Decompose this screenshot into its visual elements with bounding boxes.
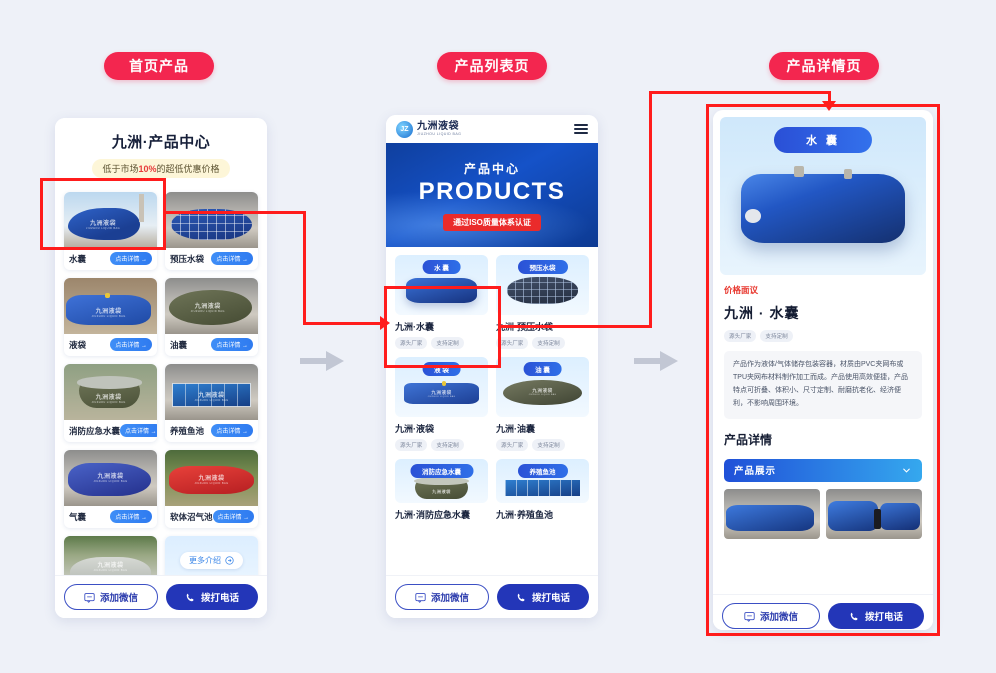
product-name: 气囊 [69, 511, 86, 523]
product-gallery-accordion[interactable]: 产品展示 [724, 459, 922, 482]
detail-action-bar: 添加微信 拨打电话 [713, 594, 933, 630]
connector-arrowhead-list [380, 316, 390, 330]
list-card-xiaofang-yingji[interactable]: 消防应急水囊 九洲液袋 九洲·消防应急水囊 [395, 459, 488, 521]
list-action-bar: 添加微信 拨打电话 [386, 575, 598, 618]
product-name: 预压水袋 [170, 253, 204, 265]
product-image: 液 袋 九洲液袋JIUZHOU LIQUID BAG [395, 357, 488, 417]
product-card-younang[interactable]: 九洲液袋JIUZHOU LIQUID BAG 油囊 点击详情 → [165, 278, 258, 356]
product-card-qinang[interactable]: 九洲液袋JIUZHOU LIQUID BAG 气囊 点击详情 → [64, 450, 157, 528]
phone-detail-screen: 水 囊 价格面议 九洲 · 水囊 源头厂家 支持定制 产品作为液体/气体储存包装… [713, 110, 933, 630]
detail-section-title: 产品详情 [724, 431, 922, 448]
detail-chip[interactable]: 点击详情 → [213, 510, 255, 523]
home-header: 九洲·产品中心 低于市场10%的超低优惠价格 [55, 118, 267, 184]
tag-source-factory: 源头厂家 [395, 337, 427, 349]
page-title: 九洲·产品中心 [65, 131, 257, 152]
promo-prefix: 低于市场 [102, 164, 138, 174]
hamburger-icon[interactable] [574, 124, 588, 134]
product-tags: 源头厂家 支持定制 [496, 439, 589, 451]
detail-info: 价格面议 九洲 · 水囊 源头厂家 支持定制 产品作为液体/气体储存包装容器，材… [713, 275, 933, 419]
price-label: 价格面议 [724, 284, 922, 296]
product-tags: 源头厂家 支持定制 [395, 439, 488, 451]
connector-list-to-detail-v1 [649, 91, 652, 328]
phone-home-screen: 九洲·产品中心 低于市场10%的超低优惠价格 九洲液袋JIUZHOU LIQUI… [55, 118, 267, 618]
detail-hero-image: 水 囊 [720, 117, 926, 275]
step-pill-list: 产品列表页 [437, 52, 547, 80]
hero-product-badge: 水 囊 [774, 127, 872, 153]
add-wechat-label: 添加微信 [760, 609, 798, 623]
detail-gallery [724, 489, 922, 539]
product-card-ruanti-zhaoqichi[interactable]: 九洲液袋JIUZHOU LIQUID BAG 软体沼气池 点击详情 → [165, 450, 258, 528]
tag-customizable: 支持定制 [431, 439, 463, 451]
product-image: 预压水袋 [496, 255, 589, 315]
list-hero-banner: 产品中心 PRODUCTS 通过ISO质量体系认证 [386, 143, 598, 247]
product-image: 九洲液袋JIUZHOU LIQUID BAG [64, 192, 157, 248]
add-wechat-label: 添加微信 [100, 590, 138, 604]
image-watermark: 九洲液袋JIUZHOU LIQUID BAG [86, 218, 120, 230]
connector-home-to-list-v [303, 211, 306, 324]
phone-icon [849, 611, 860, 622]
product-title: 九洲 · 水囊 [724, 303, 922, 323]
detail-chip[interactable]: 点击详情 → [120, 424, 157, 437]
detail-chip[interactable]: 点击详情 → [211, 338, 253, 351]
more-intro-chip[interactable]: 更多介绍 [180, 552, 243, 569]
product-card-yangzhi-yuchi[interactable]: 九洲液袋JIUZHOU LIQUID BAG 养殖鱼池 点击详情 → [165, 364, 258, 442]
home-action-bar: 添加微信 拨打电话 [55, 575, 267, 618]
product-badge: 液 袋 [422, 362, 461, 376]
call-phone-button[interactable]: 拨打电话 [166, 584, 258, 610]
promo-highlight: 10% [138, 164, 156, 174]
home-product-grid: 九洲液袋JIUZHOU LIQUID BAG 水囊 点击详情 → [55, 184, 267, 584]
list-card-younang[interactable]: 油 囊 九洲液袋JIUZHOU LIQUID BAG 九洲·油囊 源头厂家 支持… [496, 357, 589, 451]
accordion-label: 产品展示 [734, 463, 776, 477]
banner-title-cn: 产品中心 [464, 160, 520, 177]
detail-chip[interactable]: 点击详情 → [211, 424, 253, 437]
promo-suffix: 的超低优惠价格 [157, 164, 220, 174]
product-image: 消防应急水囊 九洲液袋 [395, 459, 488, 503]
product-card-shuinang[interactable]: 九洲液袋JIUZHOU LIQUID BAG 水囊 点击详情 → [64, 192, 157, 270]
product-title: 九洲·液袋 [395, 422, 488, 435]
call-phone-button[interactable]: 拨打电话 [497, 584, 589, 610]
product-name: 消防应急水囊 [69, 425, 120, 437]
product-name: 水囊 [69, 253, 86, 265]
arrow-right-circle-icon [225, 556, 234, 565]
product-badge: 油 囊 [523, 362, 562, 376]
flow-arrow-1 [300, 348, 346, 374]
chat-bubble-icon [415, 592, 426, 603]
list-navbar: JZ 九洲液袋 JIUZHOU LIQUID BAG [386, 115, 598, 143]
promo-subtitle: 低于市场10%的超低优惠价格 [92, 159, 229, 178]
step-pill-home: 首页产品 [104, 52, 214, 80]
product-name: 液袋 [69, 339, 86, 351]
product-image: 九洲液袋JIUZHOU LIQUID BAG [165, 278, 258, 334]
connector-home-to-list-h2 [303, 322, 383, 325]
logo-name-en: JIUZHOU LIQUID BAG [417, 133, 461, 137]
add-wechat-label: 添加微信 [431, 590, 469, 604]
product-card-xiaofang-yingji[interactable]: 九洲液袋JIUZHOU LIQUID BAG 消防应急水囊 点击详情 → [64, 364, 157, 442]
logo-mark-icon: JZ [396, 121, 413, 138]
phone-icon [516, 592, 527, 603]
gallery-image-2[interactable] [826, 489, 922, 539]
chat-bubble-icon [744, 611, 755, 622]
product-title: 九洲·油囊 [496, 422, 589, 435]
call-phone-label: 拨打电话 [532, 590, 570, 604]
logo-name-cn: 九洲液袋 [417, 122, 461, 132]
phone-list-screen: JZ 九洲液袋 JIUZHOU LIQUID BAG 产品中心 PRODUCTS… [386, 115, 598, 618]
product-image: 九洲液袋JIUZHOU LIQUID BAG [165, 450, 258, 506]
product-image: 九洲液袋JIUZHOU LIQUID BAG [64, 364, 157, 420]
gallery-image-1[interactable] [724, 489, 820, 539]
chevron-down-icon [901, 465, 912, 476]
add-wechat-button[interactable]: 添加微信 [722, 603, 820, 629]
phone-icon [185, 592, 196, 603]
call-phone-button[interactable]: 拨打电话 [828, 603, 924, 629]
more-intro-label: 更多介绍 [189, 555, 221, 566]
call-phone-label: 拨打电话 [201, 590, 239, 604]
tag-source-factory: 源头厂家 [724, 330, 756, 342]
flow-arrow-2 [634, 348, 680, 374]
call-phone-label: 拨打电话 [865, 609, 903, 623]
site-logo[interactable]: JZ 九洲液袋 JIUZHOU LIQUID BAG [396, 121, 461, 138]
tag-source-factory: 源头厂家 [395, 439, 427, 451]
product-badge: 预压水袋 [518, 260, 568, 274]
product-image: 养殖鱼池 [496, 459, 589, 503]
add-wechat-button[interactable]: 添加微信 [64, 584, 158, 610]
iso-badge: 通过ISO质量体系认证 [443, 214, 541, 231]
product-description: 产品作为液体/气体储存包装容器，材质由PVC夹网布或TPU夹网布材料制作加工而成… [724, 351, 922, 419]
list-card-yuya-shuidai[interactable]: 预压水袋 九洲·预压水袋 源头厂家 支持定制 [496, 255, 589, 349]
flow-diagram: 首页产品 产品列表页 产品详情页 九洲·产品中心 低于市场10%的超低优惠价格 [0, 0, 996, 673]
list-card-yangzhi-yuchi[interactable]: 养殖鱼池 九洲·养殖鱼池 [496, 459, 589, 521]
list-product-grid: 水 囊 九洲·水囊 源头厂家 支持定制 预压水袋 九洲·预压水 [386, 247, 598, 521]
connector-list-to-detail-h1 [498, 325, 652, 328]
product-image [165, 192, 258, 248]
product-name: 油囊 [170, 339, 187, 351]
tag-source-factory: 源头厂家 [496, 439, 528, 451]
step-pill-detail: 产品详情页 [769, 52, 879, 80]
list-card-yedai[interactable]: 液 袋 九洲液袋JIUZHOU LIQUID BAG 九洲·液袋 源头厂家 支持… [395, 357, 488, 451]
detail-chip[interactable]: 点击详情 → [110, 252, 152, 265]
detail-chip[interactable]: 点击详情 → [110, 510, 152, 523]
product-image: 九洲液袋JIUZHOU LIQUID BAG [64, 278, 157, 334]
product-badge: 水 囊 [422, 260, 461, 274]
tag-customizable: 支持定制 [760, 330, 792, 342]
tag-source-factory: 源头厂家 [496, 337, 528, 349]
connector-home-to-list-h1 [163, 211, 306, 214]
chat-bubble-icon [84, 592, 95, 603]
tag-customizable: 支持定制 [532, 439, 564, 451]
detail-chip[interactable]: 点击详情 → [211, 252, 253, 265]
product-title: 九洲·养殖鱼池 [496, 508, 589, 521]
list-card-shuinang[interactable]: 水 囊 九洲·水囊 源头厂家 支持定制 [395, 255, 488, 349]
connector-arrowhead-detail [822, 101, 836, 111]
connector-list-to-detail-h2 [649, 91, 831, 94]
product-image: 油 囊 九洲液袋JIUZHOU LIQUID BAG [496, 357, 589, 417]
detail-chip[interactable]: 点击详情 → [110, 338, 152, 351]
product-badge: 养殖鱼池 [518, 464, 568, 478]
product-image: 水 囊 [395, 255, 488, 315]
tag-customizable: 支持定制 [431, 337, 463, 349]
product-card-yuya-shuidai[interactable]: 预压水袋 点击详情 → [165, 192, 258, 270]
product-tags: 源头厂家 支持定制 [724, 330, 922, 342]
product-title: 九洲·水囊 [395, 320, 488, 333]
banner-title-en: PRODUCTS [419, 178, 566, 206]
product-tags: 源头厂家 支持定制 [395, 337, 488, 349]
product-tags: 源头厂家 支持定制 [496, 337, 589, 349]
product-image: 九洲液袋JIUZHOU LIQUID BAG [64, 450, 157, 506]
product-image: 九洲液袋JIUZHOU LIQUID BAG [165, 364, 258, 420]
product-badge: 消防应急水囊 [410, 464, 473, 478]
add-wechat-button[interactable]: 添加微信 [395, 584, 489, 610]
product-card-yedai[interactable]: 九洲液袋JIUZHOU LIQUID BAG 液袋 点击详情 → [64, 278, 157, 356]
product-name: 软体沼气池 [170, 511, 213, 523]
product-name: 养殖鱼池 [170, 425, 204, 437]
tag-customizable: 支持定制 [532, 337, 564, 349]
product-title: 九洲·消防应急水囊 [395, 508, 488, 521]
